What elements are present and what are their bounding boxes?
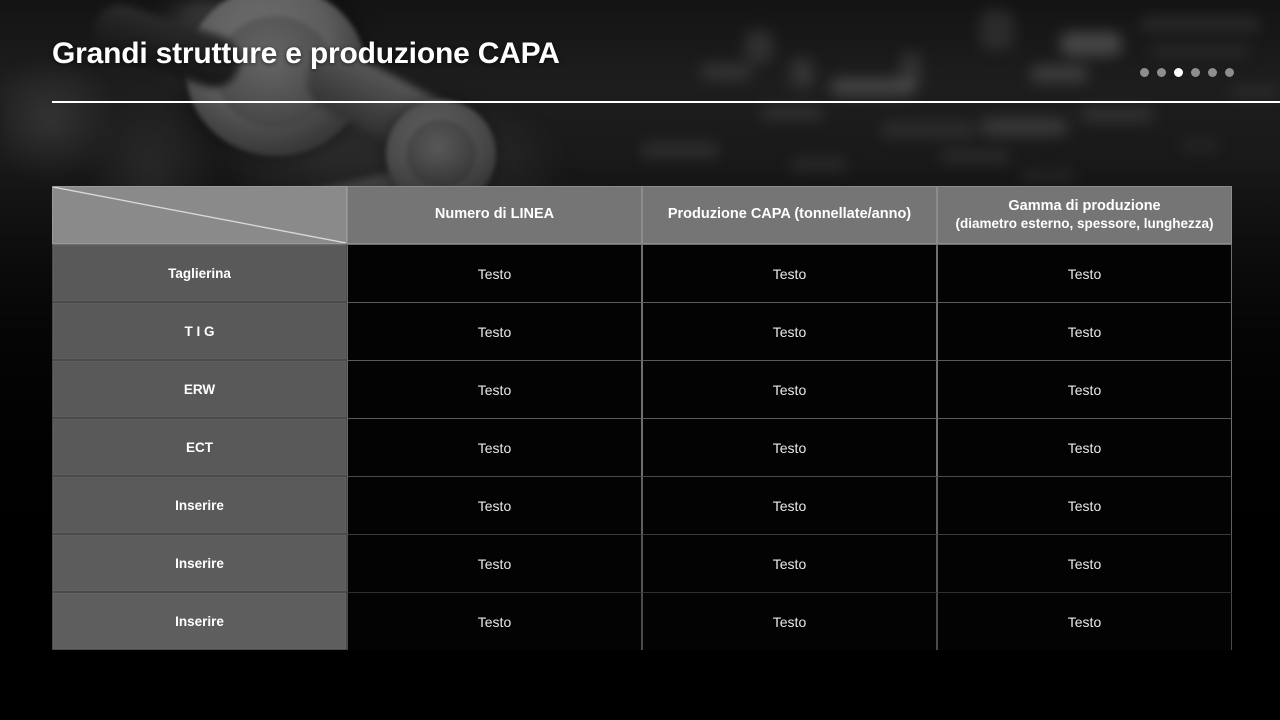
- column-header-gamma-produzione: Gamma di produzione (diametro esterno, s…: [937, 186, 1232, 244]
- cell-produzione-capa[interactable]: Testo: [642, 534, 937, 592]
- pagination-dot-6[interactable]: [1225, 68, 1234, 77]
- table-row: Taglierina Testo Testo Testo: [52, 244, 1232, 302]
- cell-gamma-produzione[interactable]: Testo: [937, 476, 1232, 534]
- pagination-dot-4[interactable]: [1191, 68, 1200, 77]
- column-header-label: Produzione CAPA (tonnellate/anno): [668, 206, 911, 222]
- column-header-sublabel: (diametro esterno, spessore, lunghezza): [946, 216, 1223, 232]
- table-row: ERW Testo Testo Testo: [52, 360, 1232, 418]
- cell-numero-linea[interactable]: Testo: [347, 418, 642, 476]
- pagination-dot-2[interactable]: [1157, 68, 1166, 77]
- cell-gamma-produzione[interactable]: Testo: [937, 302, 1232, 360]
- row-label-inserire-1[interactable]: Inserire: [52, 476, 347, 534]
- cell-produzione-capa[interactable]: Testo: [642, 244, 937, 302]
- capa-production-table: Numero di LINEA Produzione CAPA (tonnell…: [52, 186, 1232, 650]
- cell-produzione-capa[interactable]: Testo: [642, 302, 937, 360]
- row-label-erw[interactable]: ERW: [52, 360, 347, 418]
- cell-produzione-capa[interactable]: Testo: [642, 360, 937, 418]
- column-header-produzione-capa: Produzione CAPA (tonnellate/anno): [642, 186, 937, 244]
- pagination-dot-1[interactable]: [1140, 68, 1149, 77]
- cell-gamma-produzione[interactable]: Testo: [937, 244, 1232, 302]
- page-title: Grandi strutture e produzione CAPA: [52, 37, 560, 71]
- cell-numero-linea[interactable]: Testo: [347, 302, 642, 360]
- cell-produzione-capa[interactable]: Testo: [642, 476, 937, 534]
- column-header-label: Numero di LINEA: [435, 206, 554, 222]
- table-row: ECT Testo Testo Testo: [52, 418, 1232, 476]
- cell-produzione-capa[interactable]: Testo: [642, 418, 937, 476]
- slide-header: Grandi strutture e produzione CAPA: [0, 0, 1280, 104]
- diagonal-split-line-icon: [53, 187, 346, 243]
- cell-numero-linea[interactable]: Testo: [347, 360, 642, 418]
- table-row: T I G Testo Testo Testo: [52, 302, 1232, 360]
- row-label-tig[interactable]: T I G: [52, 302, 347, 360]
- cell-produzione-capa[interactable]: Testo: [642, 592, 937, 650]
- table-body: Taglierina Testo Testo Testo T I G Testo…: [52, 244, 1232, 650]
- row-label-taglierina[interactable]: Taglierina: [52, 244, 347, 302]
- cell-gamma-produzione[interactable]: Testo: [937, 534, 1232, 592]
- table-corner-cell: [52, 186, 347, 244]
- slide-root: Grandi strutture e produzione CAPA: [0, 0, 1280, 720]
- row-label-inserire-2[interactable]: Inserire: [52, 534, 347, 592]
- table-row: Inserire Testo Testo Testo: [52, 476, 1232, 534]
- cell-numero-linea[interactable]: Testo: [347, 592, 642, 650]
- cell-numero-linea[interactable]: Testo: [347, 476, 642, 534]
- row-label-inserire-3[interactable]: Inserire: [52, 592, 347, 650]
- table-header-row: Numero di LINEA Produzione CAPA (tonnell…: [52, 186, 1232, 244]
- pagination-dots[interactable]: [1140, 68, 1234, 77]
- table-header: Numero di LINEA Produzione CAPA (tonnell…: [52, 186, 1232, 244]
- table-row: Inserire Testo Testo Testo: [52, 534, 1232, 592]
- cell-numero-linea[interactable]: Testo: [347, 534, 642, 592]
- column-header-numero-linea: Numero di LINEA: [347, 186, 642, 244]
- pagination-dot-5[interactable]: [1208, 68, 1217, 77]
- cell-gamma-produzione[interactable]: Testo: [937, 592, 1232, 650]
- cell-gamma-produzione[interactable]: Testo: [937, 360, 1232, 418]
- row-label-ect[interactable]: ECT: [52, 418, 347, 476]
- cell-gamma-produzione[interactable]: Testo: [937, 418, 1232, 476]
- title-underline-rule: [52, 101, 1280, 103]
- table-row: Inserire Testo Testo Testo: [52, 592, 1232, 650]
- column-header-label: Gamma di produzione: [1008, 198, 1160, 214]
- pagination-dot-3[interactable]: [1174, 68, 1183, 77]
- cell-numero-linea[interactable]: Testo: [347, 244, 642, 302]
